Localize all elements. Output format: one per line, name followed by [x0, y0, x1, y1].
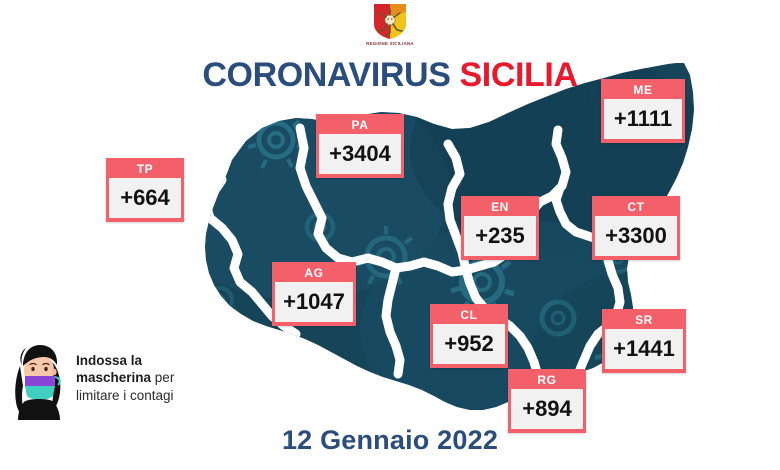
province-new-cases-value: +3300	[595, 216, 677, 256]
province-code-label: CT	[595, 199, 677, 216]
mask-advisory-text: Indossa la mascherina per limitare i con…	[76, 352, 174, 405]
province-box-tp: TP+664	[106, 158, 184, 222]
province-box-ct: CT+3300	[592, 196, 680, 260]
region-logo: REGIONE SICILIANA	[0, 2, 780, 54]
mask-advisory: Indossa la mascherina per limitare i con…	[8, 332, 208, 424]
mask-advisory-line2-strong: mascherina	[76, 370, 151, 385]
province-code-label: CL	[433, 307, 505, 324]
province-code-label: ME	[604, 82, 682, 99]
trinacria-shield-icon	[372, 2, 408, 40]
province-new-cases-value: +664	[109, 178, 181, 218]
region-logo-caption: REGIONE SICILIANA	[366, 41, 414, 46]
province-box-ag: AG+1047	[272, 262, 356, 326]
coronavirus-sicilia-infographic: REGIONE SICILIANA CORONAVIRUS SICILIA TP…	[0, 0, 780, 470]
mask-advisory-line2-light: per	[151, 370, 174, 385]
province-new-cases-value: +1047	[275, 282, 353, 322]
province-new-cases-value: +1111	[604, 99, 682, 139]
mask-advisory-line3: limitare i contagi	[76, 388, 174, 403]
province-box-sr: SR+1441	[602, 309, 686, 373]
province-box-me: ME+1111	[601, 79, 685, 143]
mask-advisory-line1: Indossa la	[76, 353, 142, 368]
province-new-cases-value: +1441	[605, 329, 683, 369]
province-box-rg: RG+894	[508, 369, 586, 433]
report-date: 12 Gennaio 2022	[0, 425, 780, 456]
province-new-cases-value: +235	[464, 216, 536, 256]
province-code-label: SR	[605, 312, 683, 329]
province-code-label: RG	[511, 372, 583, 389]
province-code-label: TP	[109, 161, 181, 178]
province-box-en: EN+235	[461, 196, 539, 260]
province-new-cases-value: +894	[511, 389, 583, 429]
province-box-pa: PA+3404	[316, 114, 404, 178]
province-code-label: EN	[464, 199, 536, 216]
person-wearing-mask-icon	[8, 336, 70, 420]
title-primary: CORONAVIRUS	[202, 56, 450, 94]
province-new-cases-value: +952	[433, 324, 505, 364]
title-secondary: SICILIA	[460, 56, 578, 94]
province-new-cases-value: +3404	[319, 134, 401, 174]
province-box-cl: CL+952	[430, 304, 508, 368]
province-code-label: AG	[275, 265, 353, 282]
province-code-label: PA	[319, 117, 401, 134]
